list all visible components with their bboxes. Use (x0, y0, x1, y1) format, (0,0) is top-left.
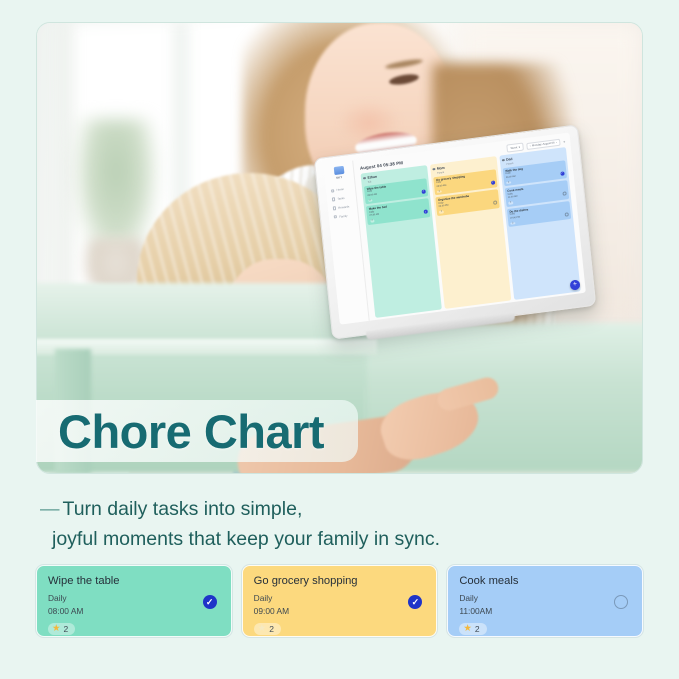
tablet-columns: Ethan Kid Wipe the table Daily 08:00 AM … (355, 147, 586, 319)
task-complete-checkbox[interactable]: ✓ (203, 595, 217, 609)
app-brand-label: SKY (325, 174, 354, 182)
task-check-icon[interactable]: ✓ (560, 171, 564, 175)
sidebar-item-label: Tasks (337, 196, 345, 201)
chevron-right-icon[interactable]: › (556, 141, 557, 144)
view-select[interactable]: Week ▾ (507, 142, 524, 152)
task-card-row: Wipe the table Daily 08:00 AM ★ 2 ✓ Go g… (36, 565, 643, 637)
add-task-top-icon[interactable]: + (563, 139, 566, 144)
task-star-badge: ★ 2 (459, 623, 486, 635)
task-title: Cook meals (459, 575, 631, 588)
task-check-icon[interactable]: ✓ (421, 189, 425, 193)
task-check-icon[interactable] (493, 201, 497, 205)
task-card-cook-meals[interactable]: Cook meals Daily 11:00AM ★ 2 (447, 565, 643, 637)
star-icon: ★ (52, 624, 61, 634)
checklist-icon (332, 198, 336, 202)
task-frequency: Daily (459, 592, 631, 605)
task-star-count: 2 (64, 624, 69, 634)
column-ethan: Ethan Kid Wipe the table Daily 08:00 AM … (361, 165, 443, 318)
avatar (502, 159, 505, 162)
task-check-icon[interactable] (562, 192, 566, 196)
star-icon: ★ (258, 624, 267, 634)
task-card-wipe-the-table[interactable]: Wipe the table Daily 08:00 AM ★ 2 ✓ (36, 565, 232, 637)
sidebar-item-label: Home (336, 187, 344, 192)
task-time: 09:00 AM (254, 605, 426, 618)
chore-chart-badge: Chore Chart (36, 400, 358, 462)
avatar (363, 177, 366, 180)
star-icon (333, 206, 337, 210)
task-star-badge: ★ 2 (48, 623, 75, 635)
task-title: Go grocery shopping (254, 575, 426, 588)
task-stars: 2 (506, 181, 511, 184)
tagline-line-1: Turn daily tasks into simple, (63, 498, 303, 520)
task-stars: 2 (439, 210, 444, 213)
task-title: Wipe the table (48, 575, 220, 588)
task-star-count: 2 (269, 624, 274, 634)
task-check-icon[interactable]: ✓ (423, 210, 427, 214)
home-icon (331, 189, 335, 193)
chevron-left-icon[interactable]: ‹ (530, 144, 531, 147)
task-star-badge: ★ 2 (254, 623, 281, 635)
chore-chart-title: Chore Chart (58, 404, 324, 459)
column-mom: Mom Parent Go grocery shopping Daily 09:… (430, 156, 512, 309)
tablet-main: August 04 05:38 PM Week ▾ ‹ Monday, Augu… (353, 132, 586, 320)
tagline-dash: — (40, 498, 60, 520)
task-stars: 2 (508, 201, 513, 204)
task-frequency: Daily (48, 592, 220, 605)
people-icon (334, 215, 338, 219)
task-card-go-grocery-shopping[interactable]: Go grocery shopping Daily 09:00 AM ★ 2 ✓ (242, 565, 438, 637)
task-stars: 2 (370, 219, 375, 222)
task-check-icon[interactable] (564, 212, 568, 216)
tablet-sidebar-nav: Home Tasks Rewards Family (326, 184, 358, 223)
app-logo-icon (333, 166, 344, 175)
task-stars: 2 (511, 222, 516, 225)
task-star-count: 2 (475, 624, 480, 634)
tablet-screen[interactable]: SKY Home Tasks Rewards (323, 132, 585, 324)
task-complete-checkbox[interactable] (614, 595, 628, 609)
date-navigator-label: Monday, August 04 (532, 141, 555, 147)
star-icon: ★ (463, 624, 472, 634)
sidebar-item-label: Rewards (338, 204, 349, 209)
tagline: —Turn daily tasks into simple, joyful mo… (40, 494, 640, 554)
view-select-value: Week (510, 146, 517, 150)
task-stars: 2 (368, 199, 373, 202)
task-stars: 2 (437, 190, 442, 193)
tablet-device: SKY Home Tasks Rewards (314, 124, 596, 339)
task-frequency: Daily (254, 592, 426, 605)
task-time: 08:00 AM (48, 605, 220, 618)
chevron-down-icon: ▾ (519, 145, 521, 149)
sidebar-item-label: Family (339, 213, 348, 218)
tagline-line-2: joyful moments that keep your family in … (40, 524, 640, 554)
task-check-icon[interactable]: ✓ (491, 180, 495, 184)
column-dad: Dad Parent Walk the dog Daily 06:00 AM 2… (499, 147, 581, 300)
task-time: 11:00AM (459, 605, 631, 618)
avatar (433, 168, 436, 171)
